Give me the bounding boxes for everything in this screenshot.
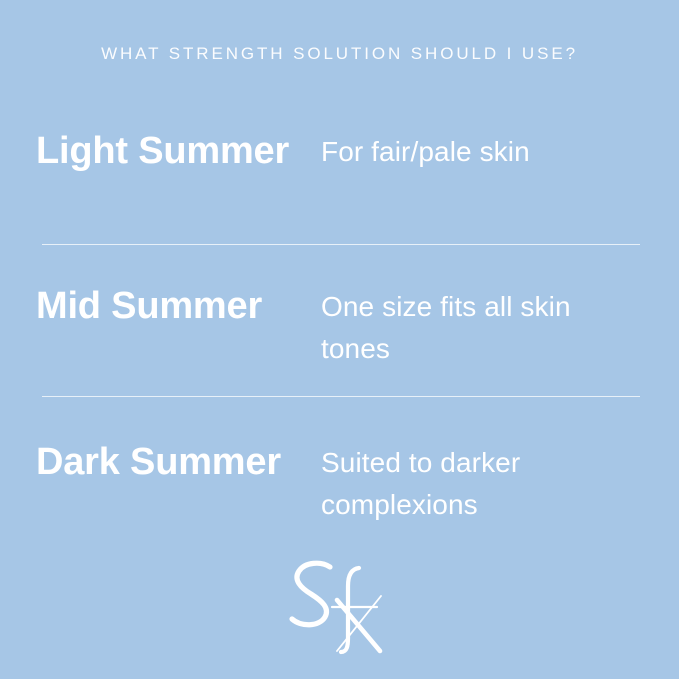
row-title-mid-summer: Mid Summer [36,283,321,329]
page-title: What strength solution should I use? [0,44,679,64]
row-description-mid-summer: One size fits all skin tones [321,283,611,370]
row-description-dark-summer: Suited to darker complexions [321,439,611,526]
divider-line [42,396,640,397]
row-title-light-summer: Light Summer [36,128,321,174]
row-description-light-summer: For fair/pale skin [321,128,611,173]
sfx-monogram-icon [285,556,395,656]
row-dark-summer: Dark Summer Suited to darker complexions [36,439,643,526]
row-mid-summer: Mid Summer One size fits all skin tones [36,283,643,370]
strength-solution-infographic: What strength solution should I use? Lig… [0,0,679,679]
row-light-summer: Light Summer For fair/pale skin [36,128,643,174]
divider-line [42,244,640,245]
brand-logo [0,556,679,661]
row-title-dark-summer: Dark Summer [36,439,321,485]
